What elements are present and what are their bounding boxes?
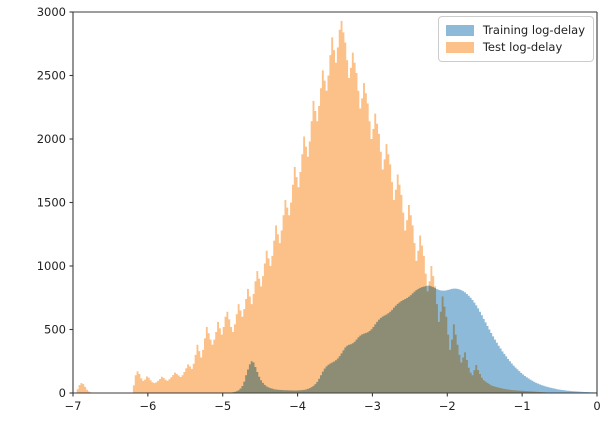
figure-canvas: −7−6−5−4−3−2−10050010001500200025003000 … xyxy=(0,0,610,436)
y-tick-label: 0 xyxy=(59,386,66,400)
legend-swatch-training xyxy=(446,25,474,36)
legend-entry-training: Training log-delay xyxy=(446,22,585,39)
y-tick-label: 2000 xyxy=(37,132,66,146)
y-tick-label: 1000 xyxy=(37,259,66,273)
legend-entry-test: Test log-delay xyxy=(446,39,585,56)
legend-label-training: Training log-delay xyxy=(483,25,585,37)
x-tick-label: −7 xyxy=(65,399,82,413)
x-tick-label: −1 xyxy=(514,399,531,413)
x-tick-label: −2 xyxy=(439,399,456,413)
y-tick-label: 500 xyxy=(44,323,66,337)
histogram-plot: −7−6−5−4−3−2−10050010001500200025003000 xyxy=(0,0,610,436)
x-tick-label: −5 xyxy=(214,399,231,413)
legend-swatch-test xyxy=(446,42,474,53)
legend-label-test: Test log-delay xyxy=(483,42,562,54)
x-tick-label: −6 xyxy=(139,399,156,413)
x-tick-label: −3 xyxy=(364,399,381,413)
y-tick-label: 3000 xyxy=(37,5,66,19)
plot-area: −7−6−5−4−3−2−10050010001500200025003000 xyxy=(0,0,610,436)
x-tick-label: −4 xyxy=(289,399,306,413)
y-tick-label: 1500 xyxy=(37,196,66,210)
y-tick-label: 2500 xyxy=(37,69,66,83)
x-tick-label: 0 xyxy=(593,399,600,413)
chart-legend: Training log-delay Test log-delay xyxy=(438,16,594,62)
